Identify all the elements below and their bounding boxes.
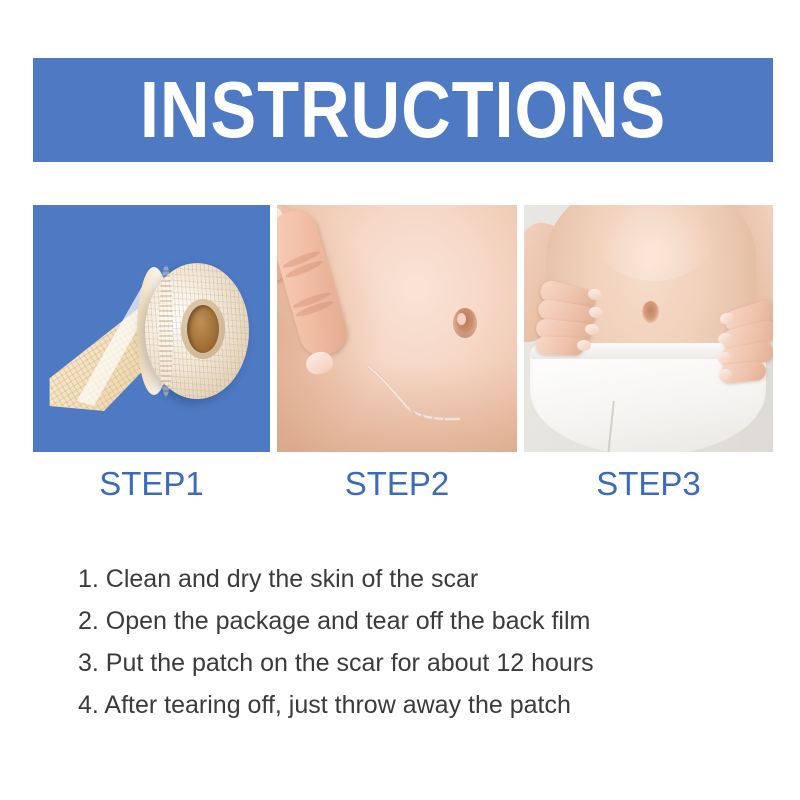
step-label-3: STEP3 xyxy=(524,462,773,506)
pointing-hand xyxy=(277,205,389,369)
right-hand-on-hip xyxy=(710,305,773,395)
silicone-tape-roll-illustration xyxy=(33,205,270,452)
fingernail xyxy=(577,340,591,351)
step-label-2: STEP2 xyxy=(277,462,517,506)
step-3-image xyxy=(524,205,773,452)
instruction-line-4: 4. After tearing off, just throw away th… xyxy=(78,684,738,726)
step-image-row xyxy=(33,205,773,452)
tape-roll-core-hole xyxy=(187,305,219,353)
index-finger xyxy=(277,205,351,360)
step-label-1: STEP1 xyxy=(33,462,270,506)
step-2-image xyxy=(277,205,517,452)
step-label-row: STEP1 STEP2 STEP3 xyxy=(33,462,773,506)
step-1-image xyxy=(33,205,270,452)
scar-line xyxy=(365,363,463,425)
page-title: INSTRUCTIONS xyxy=(140,70,666,150)
instruction-line-3: 3. Put the patch on the scar for about 1… xyxy=(78,642,738,684)
navel-fold xyxy=(457,313,466,325)
instruction-line-2: 2. Open the package and tear off the bac… xyxy=(78,600,738,642)
instructions-banner: INSTRUCTIONS xyxy=(33,58,773,162)
left-hand-on-hip xyxy=(532,283,610,359)
navel xyxy=(642,301,659,323)
instruction-list: 1. Clean and dry the skin of the scar 2.… xyxy=(78,558,738,726)
instruction-line-1: 1. Clean and dry the skin of the scar xyxy=(78,558,738,600)
navel xyxy=(453,308,477,338)
tape-roll-seam xyxy=(159,265,173,397)
